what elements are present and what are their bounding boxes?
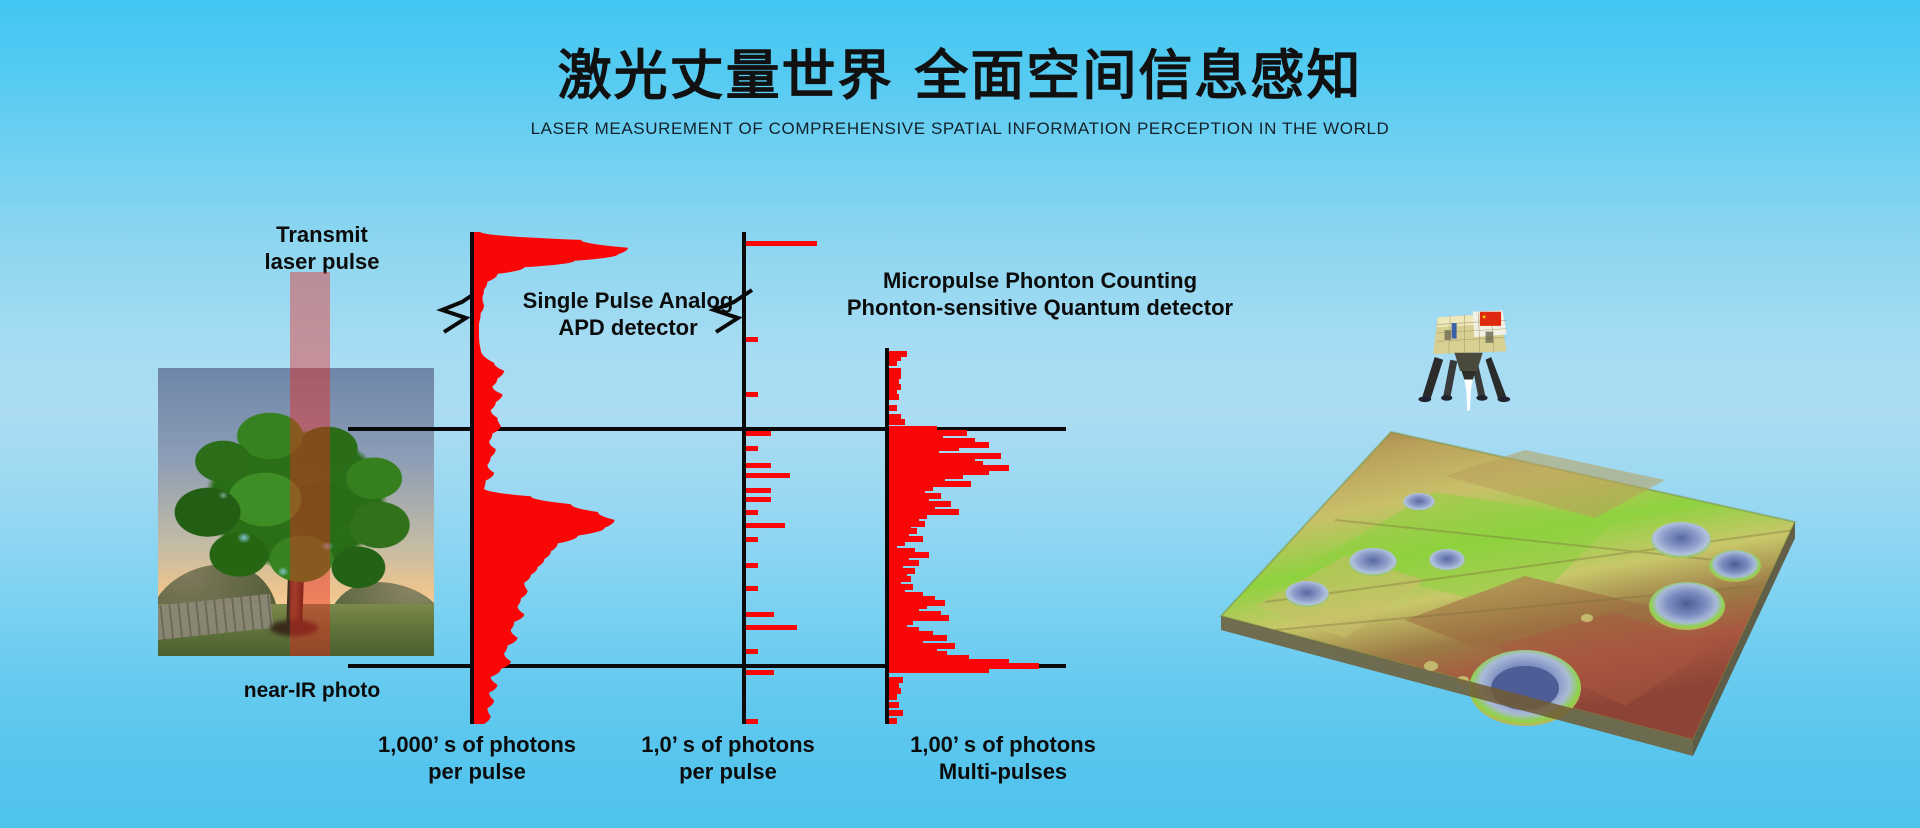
photon-return-bar [889,702,899,708]
photon-return-bar [889,360,897,366]
photon-return-bar [889,694,897,700]
caption-1-label: 1,000’ s of photons per pulse [352,732,602,786]
photon-return-bar [746,563,758,568]
photon-return-bar [746,431,771,436]
lunar-lander-image [1405,292,1535,412]
near-ir-photo-label: near-IR photo [212,678,412,704]
photon-return-bar [746,497,771,502]
photon-return-bar [746,392,758,397]
page-header: 激光丈量世界 全面空间信息感知 LASER MEASUREMENT OF COM… [0,48,1920,139]
dem-surface-image [1195,380,1815,760]
waveform-3-bars [889,348,1119,724]
detector-right-label: Micropulse Phonton Counting Phonton-sens… [830,268,1250,322]
photon-return-bar [746,719,758,724]
photon-return-bar [889,718,897,724]
photon-return-bar [746,446,758,451]
photon-return-bar [746,523,785,528]
caption-2-label: 1,0’ s of photons per pulse [618,732,838,786]
photon-return-bar [746,337,758,342]
photon-return-bar [746,241,817,246]
photon-return-bar [889,710,903,716]
laser-beam-upper [290,272,330,374]
photon-return-bar [746,612,774,617]
terrain-visualization [1195,300,1835,770]
caption-3-label: 1,00’ s of photons Multi-pulses [888,732,1118,786]
photon-return-bar [746,625,797,630]
photon-return-bar [746,473,790,478]
photon-return-bar [889,405,897,411]
photon-return-bar [889,667,989,673]
transmit-laser-pulse-label: Transmit laser pulse [232,222,412,276]
page-subtitle: LASER MEASUREMENT OF COMPREHENSIVE SPATI… [0,119,1920,139]
photon-return-bar [746,463,771,468]
photon-return-bar [746,510,758,515]
photon-return-bar [746,488,771,493]
photon-return-bar [889,688,901,694]
photon-return-bar [746,586,758,591]
page-title: 激光丈量世界 全面空间信息感知 [0,48,1920,105]
photon-return-bar [889,394,899,400]
laser-beam-overlay [290,368,330,656]
photon-return-bar [746,649,758,654]
photon-return-bar [746,670,774,675]
photon-return-bar [746,537,758,542]
photon-return-bar [889,419,905,425]
near-ir-photo-image [158,368,434,656]
